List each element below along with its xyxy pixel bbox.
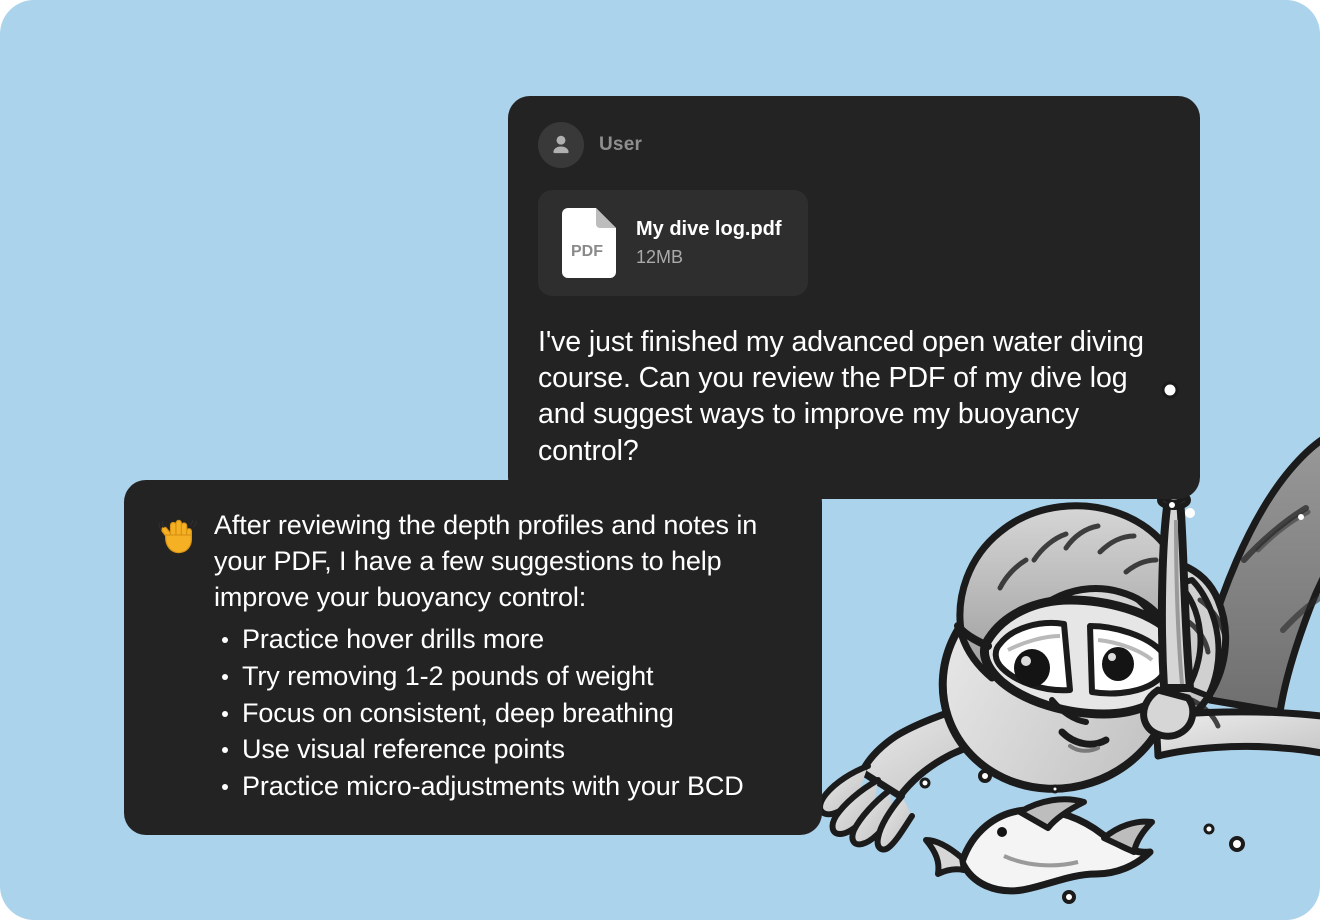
assistant-suggestion-list: Practice hover drills more Try removing … xyxy=(214,622,792,806)
waving-hand-emoji xyxy=(152,512,200,560)
person-icon xyxy=(548,132,574,158)
mask-lens-right xyxy=(1090,626,1166,693)
attachment-filename: My dive log.pdf xyxy=(636,218,782,241)
shoulder-shade xyxy=(1048,626,1102,640)
user-message-bubble[interactable]: User PDF My dive log.pdf 12MB I've just … xyxy=(508,96,1200,499)
pdf-icon-label: PDF xyxy=(571,243,603,260)
snorkel xyxy=(1144,469,1193,736)
diver-hair xyxy=(960,506,1183,678)
list-item: Try removing 1-2 pounds of weight xyxy=(214,659,792,695)
assistant-message-bubble[interactable]: After reviewing the depth profiles and n… xyxy=(124,480,822,835)
wetsuit-crease-1 xyxy=(1244,508,1306,560)
attachment-card[interactable]: PDF My dive log.pdf 12MB xyxy=(538,190,808,296)
fish-eye xyxy=(997,827,1007,837)
diver-nose xyxy=(1052,700,1086,722)
assistant-intro-text: After reviewing the depth profiles and n… xyxy=(214,508,792,616)
diver-wetsuit xyxy=(1203,428,1320,712)
pdf-file-icon: PDF xyxy=(560,208,618,278)
list-item: Practice hover drills more xyxy=(214,622,792,658)
fish-dorsal-fin xyxy=(1020,799,1084,828)
motion-lines xyxy=(1186,600,1226,726)
snorkel-mouthpiece xyxy=(1144,690,1193,736)
user-message-header: User xyxy=(538,122,1172,168)
wetsuit-crease-2 xyxy=(1258,512,1308,550)
list-item: Focus on consistent, deep breathing xyxy=(214,696,792,732)
wetsuit-crease-3 xyxy=(1283,594,1320,630)
dive-mask xyxy=(958,600,1182,714)
diver-eye-right xyxy=(1102,647,1134,681)
user-message-text: I've just finished my advanced open wate… xyxy=(538,324,1172,469)
list-item: Practice micro-adjustments with your BCD xyxy=(214,769,792,805)
avatar xyxy=(538,122,584,168)
mask-strap xyxy=(958,626,988,646)
diver-left-hand xyxy=(820,766,912,850)
diver-mouth xyxy=(1062,732,1106,744)
mask-lens-left xyxy=(996,623,1070,690)
diver-torso xyxy=(992,559,1225,744)
list-item: Use visual reference points xyxy=(214,732,792,768)
diver-head-shape xyxy=(914,541,1201,818)
chat-scene: User PDF My dive log.pdf 12MB I've just … xyxy=(0,0,1320,920)
fish-side-fin xyxy=(1104,822,1152,852)
attachment-filesize: 12MB xyxy=(636,247,782,268)
diver-right-arm xyxy=(1156,712,1320,764)
diver-eye-left xyxy=(1014,649,1050,687)
diver-left-arm xyxy=(862,694,1026,796)
fish xyxy=(926,799,1152,891)
diver-neck xyxy=(976,638,1052,701)
message-author-label: User xyxy=(599,134,642,156)
fish-tail xyxy=(926,840,964,874)
wetsuit-waistband xyxy=(1178,580,1219,696)
hair-strokes xyxy=(1000,526,1156,588)
